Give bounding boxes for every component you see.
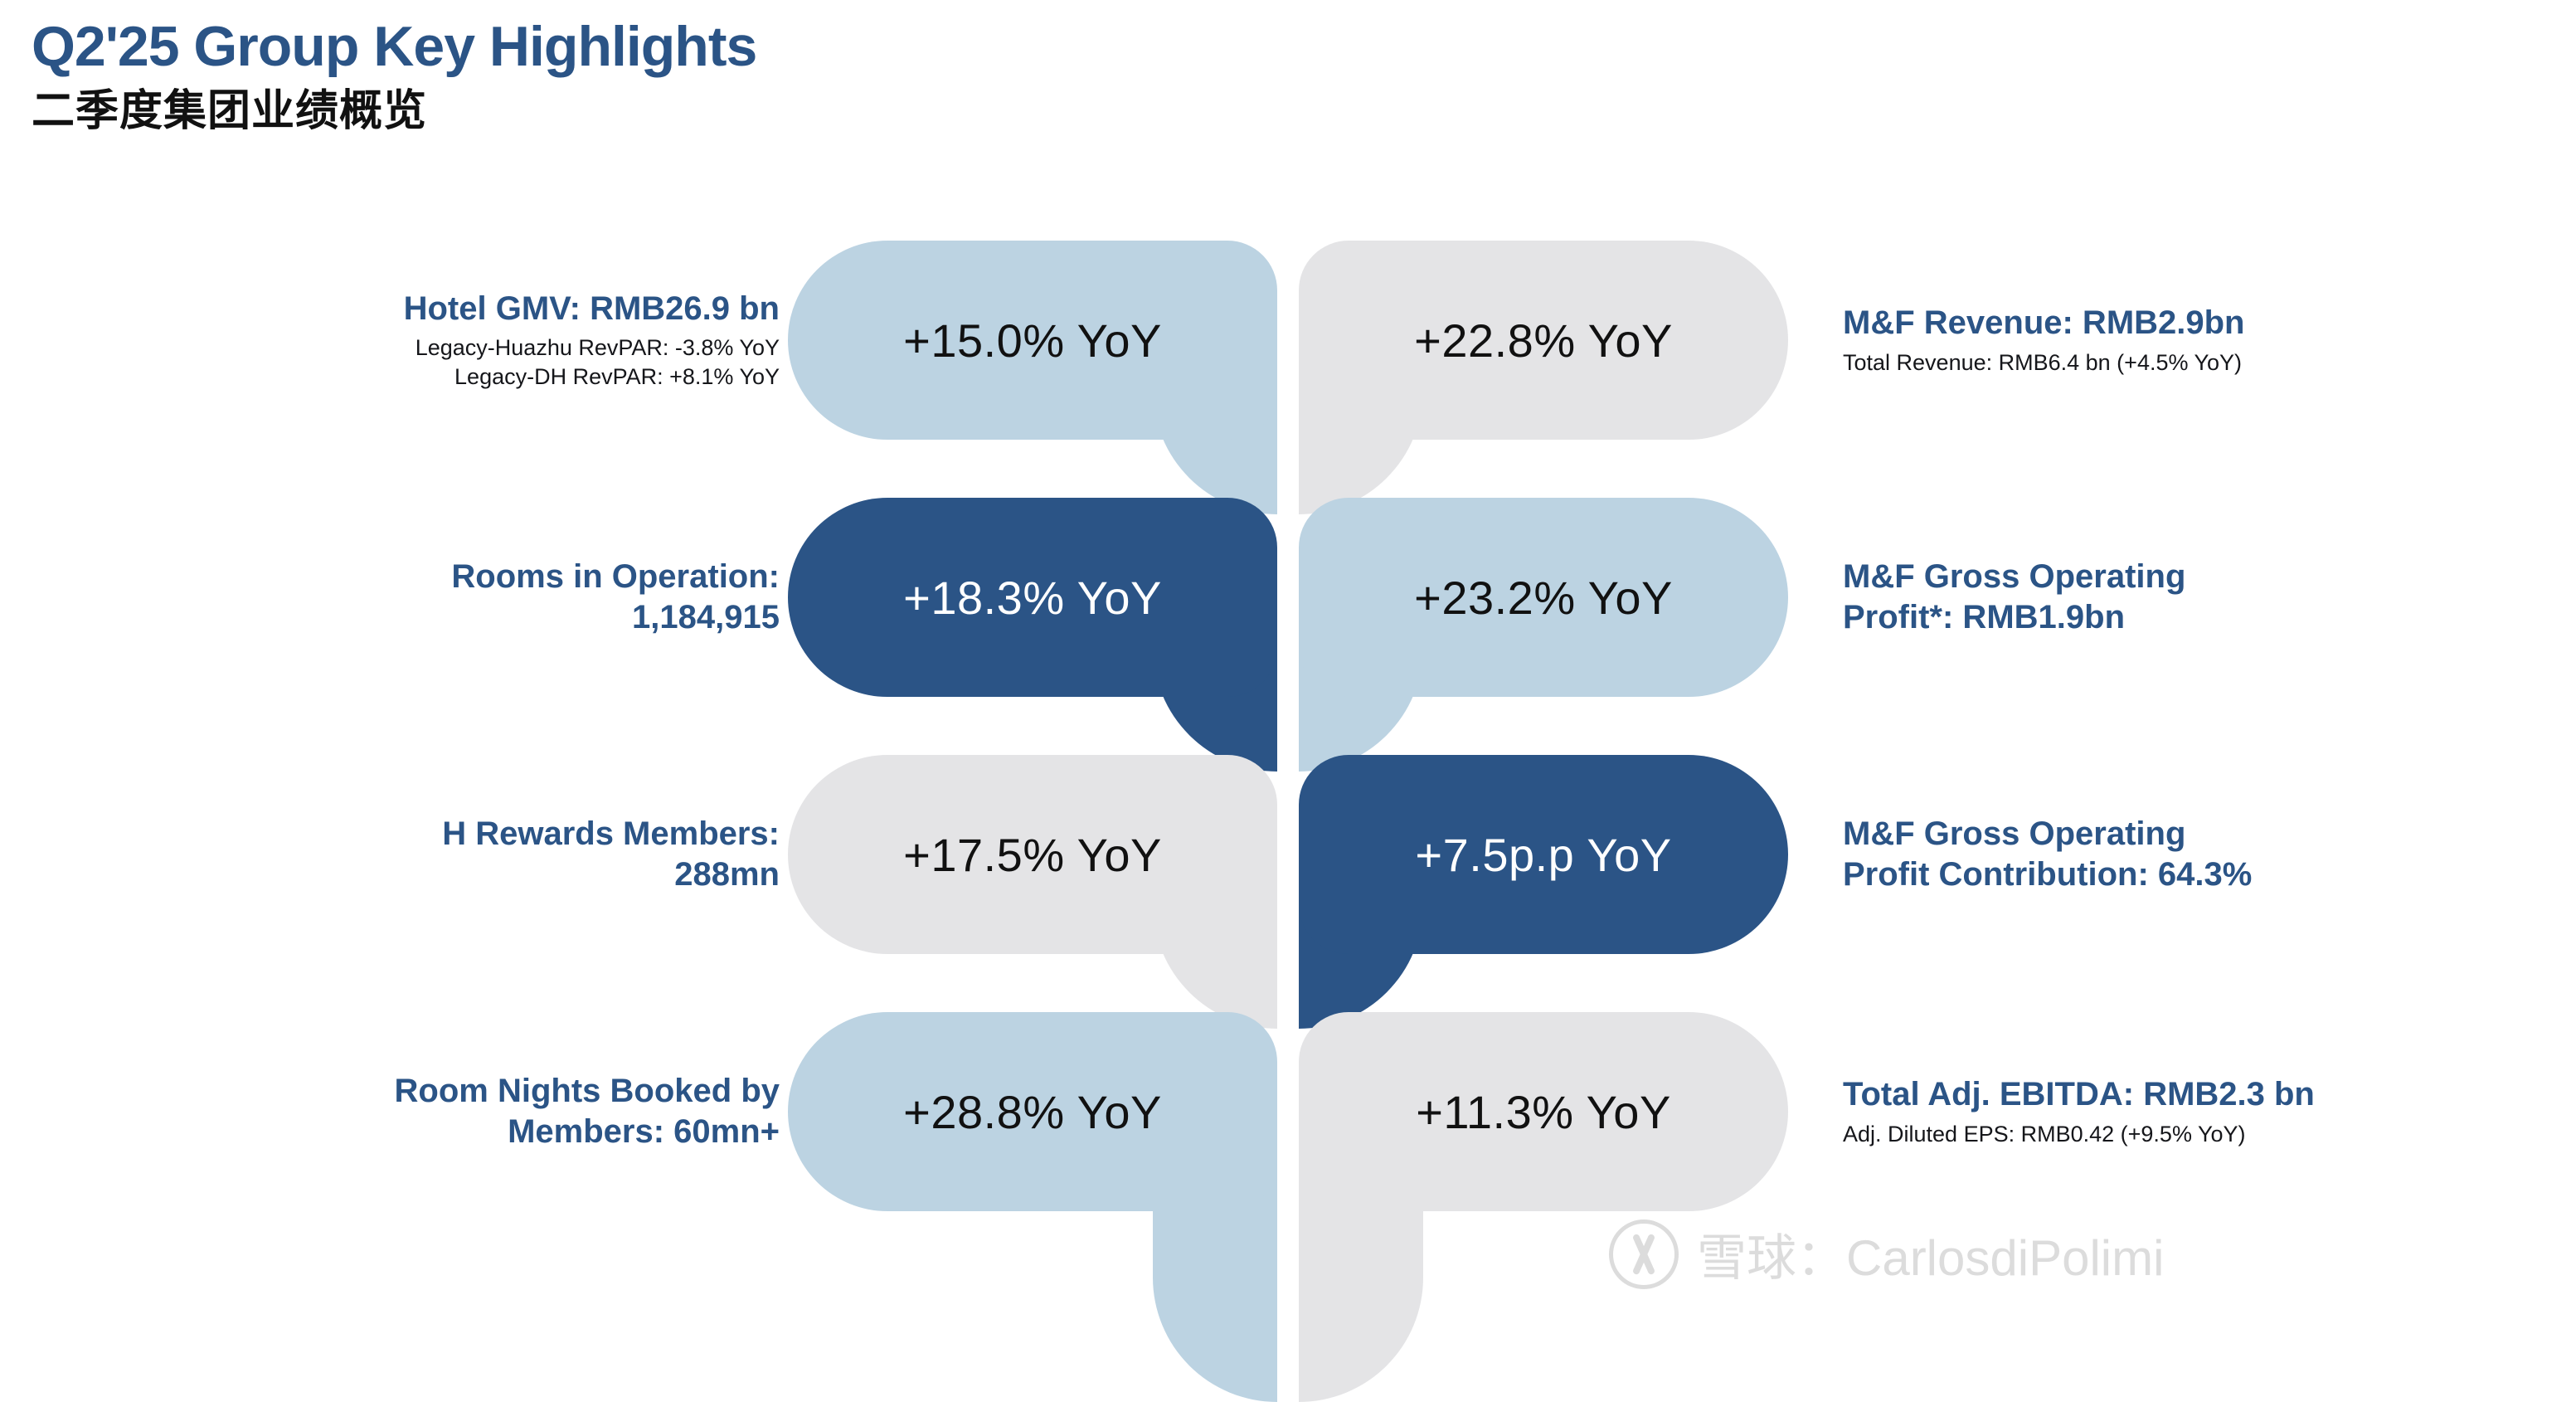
metric-label-left-1: Rooms in Operation: 1,184,915 xyxy=(149,469,780,726)
metric-headline: M&F Gross Operating Profit Contribution:… xyxy=(1843,814,2252,895)
pill-value: +18.3% YoY xyxy=(903,571,1162,625)
metric-pill-left-1[interactable]: +18.3% YoY xyxy=(788,498,1277,697)
metric-label-right-2: M&F Gross Operating Profit Contribution:… xyxy=(1843,726,2473,983)
metric-label-left-0: Hotel GMV: RMB26.9 bn Legacy-Huazhu RevP… xyxy=(149,212,780,469)
pill-value: +17.5% YoY xyxy=(903,828,1162,882)
metric-pill-right-0[interactable]: +22.8% YoY xyxy=(1299,241,1788,440)
highlight-row: Hotel GMV: RMB26.9 bn Legacy-Huazhu RevP… xyxy=(0,212,2576,469)
metric-subtext: Legacy-Huazhu RevPAR: -3.8% YoY Legacy-D… xyxy=(416,333,780,392)
pill-value: +28.8% YoY xyxy=(903,1085,1162,1139)
metric-headline: Rooms in Operation: 1,184,915 xyxy=(451,557,780,638)
metric-label-right-0: M&F Revenue: RMB2.9bn Total Revenue: RMB… xyxy=(1843,212,2473,469)
highlights-board: Hotel GMV: RMB26.9 bn Legacy-Huazhu RevP… xyxy=(0,212,2576,1356)
metric-headline: M&F Gross Operating Profit*: RMB1.9bn xyxy=(1843,557,2185,638)
highlight-row: Room Nights Booked by Members: 60mn+ +28… xyxy=(0,983,2576,1240)
metric-subtext: Total Revenue: RMB6.4 bn (+4.5% YoY) xyxy=(1843,348,2242,377)
slide-root: Q2'25 Group Key Highlights 二季度集团业绩概览 Hot… xyxy=(0,0,2576,1356)
metric-label-right-1: M&F Gross Operating Profit*: RMB1.9bn xyxy=(1843,469,2473,726)
page-header: Q2'25 Group Key Highlights 二季度集团业绩概览 xyxy=(32,18,756,133)
metric-label-right-3: Total Adj. EBITDA: RMB2.3 bn Adj. Dilute… xyxy=(1843,983,2473,1240)
page-title: Q2'25 Group Key Highlights xyxy=(32,18,756,75)
highlight-row: Rooms in Operation: 1,184,915 +18.3% YoY… xyxy=(0,469,2576,726)
metric-headline: Hotel GMV: RMB26.9 bn xyxy=(404,289,780,329)
metric-pill-left-3[interactable]: +28.8% YoY xyxy=(788,1012,1277,1211)
pill-value: +15.0% YoY xyxy=(903,314,1162,368)
metric-label-left-3: Room Nights Booked by Members: 60mn+ xyxy=(149,983,780,1240)
pill-value: +7.5p.p YoY xyxy=(1415,828,1671,882)
page-subtitle: 二季度集团业绩概览 xyxy=(32,90,756,133)
metric-subtext: Adj. Diluted EPS: RMB0.42 (+9.5% YoY) xyxy=(1843,1120,2246,1149)
metric-headline: Room Nights Booked by Members: 60mn+ xyxy=(395,1071,780,1152)
metric-pill-left-2[interactable]: +17.5% YoY xyxy=(788,755,1277,954)
metric-pill-right-2[interactable]: +7.5p.p YoY xyxy=(1299,755,1788,954)
metric-label-left-2: H Rewards Members: 288mn xyxy=(149,726,780,983)
metric-pill-left-0[interactable]: +15.0% YoY xyxy=(788,241,1277,440)
metric-pill-right-3[interactable]: +11.3% YoY xyxy=(1299,1012,1788,1211)
pill-value: +23.2% YoY xyxy=(1414,571,1673,625)
metric-headline: Total Adj. EBITDA: RMB2.3 bn xyxy=(1843,1074,2315,1115)
highlight-row: H Rewards Members: 288mn +17.5% YoY +7.5… xyxy=(0,726,2576,983)
metric-headline: M&F Revenue: RMB2.9bn xyxy=(1843,303,2245,343)
metric-pill-right-1[interactable]: +23.2% YoY xyxy=(1299,498,1788,697)
pill-value: +11.3% YoY xyxy=(1416,1085,1671,1139)
metric-headline: H Rewards Members: 288mn xyxy=(442,814,780,895)
pill-value: +22.8% YoY xyxy=(1414,314,1673,368)
